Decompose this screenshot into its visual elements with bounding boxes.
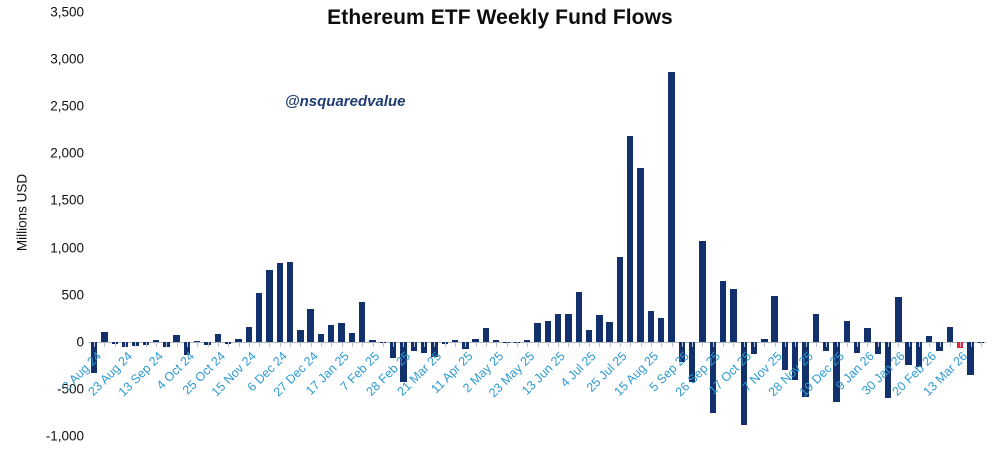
x-tickmark [754, 342, 755, 347]
bar [617, 257, 623, 342]
y-tick-label: 2,500 [50, 99, 84, 114]
bar [895, 297, 901, 342]
x-tickmark [826, 342, 827, 347]
bar [318, 334, 324, 342]
x-tickmark [208, 342, 209, 347]
bar [637, 168, 643, 341]
x-tickmark [300, 342, 301, 347]
bar [307, 309, 313, 342]
plot-area: 2 Aug 2423 Aug 2413 Sep 244 Oct 2425 Oct… [89, 12, 986, 436]
x-tickmark [373, 342, 374, 347]
x-tickmark [146, 342, 147, 347]
x-tickmark [362, 342, 363, 347]
bar [349, 333, 355, 341]
x-tickmark [249, 342, 250, 347]
x-tickmark [589, 342, 590, 347]
x-tickmark [135, 342, 136, 347]
bar [545, 321, 551, 342]
y-tick-label: 3,500 [50, 5, 84, 20]
bar [534, 323, 540, 342]
bar [256, 293, 262, 342]
x-tickmark [352, 342, 353, 347]
x-tickmark [125, 342, 126, 347]
x-tickmark [888, 342, 889, 347]
x-tickmark [104, 342, 105, 347]
x-tickmark [476, 342, 477, 347]
bar [864, 328, 870, 342]
x-tickmark [414, 342, 415, 347]
y-tick-label: 1,500 [50, 193, 84, 208]
bar [246, 327, 252, 342]
x-tickmark [455, 342, 456, 347]
x-tickmark [682, 342, 683, 347]
x-tickmark [239, 342, 240, 347]
x-tickmark [156, 342, 157, 347]
x-tickmark [960, 342, 961, 347]
bar [287, 262, 293, 342]
x-tickmark [331, 342, 332, 347]
bar [606, 322, 612, 342]
bar [565, 314, 571, 342]
x-tickmark [702, 342, 703, 347]
x-tickmark [723, 342, 724, 347]
bar [596, 315, 602, 341]
x-tickmark [486, 342, 487, 347]
x-tickmark [228, 342, 229, 347]
x-tickmark [383, 342, 384, 347]
x-tickmark [744, 342, 745, 347]
bar [771, 296, 777, 342]
x-tickmark [651, 342, 652, 347]
x-tickmark [311, 342, 312, 347]
x-tickmark [445, 342, 446, 347]
x-tickmark [867, 342, 868, 347]
x-tickmark [465, 342, 466, 347]
x-tickmark [713, 342, 714, 347]
x-tickmark [434, 342, 435, 347]
y-tick-label: 1,000 [50, 240, 84, 255]
x-tickmark [630, 342, 631, 347]
x-tickmark [568, 342, 569, 347]
x-tickmark [847, 342, 848, 347]
x-tickmark [538, 342, 539, 347]
x-tickmark [218, 342, 219, 347]
x-tickmark [393, 342, 394, 347]
x-tickmark [517, 342, 518, 347]
x-tickmark [507, 342, 508, 347]
y-tick-label: 0 [76, 334, 84, 349]
x-tickmark [909, 342, 910, 347]
x-tickmark [816, 342, 817, 347]
x-tickmark [599, 342, 600, 347]
x-tickmark [290, 342, 291, 347]
bar [297, 330, 303, 341]
y-tick-label: 500 [61, 287, 84, 302]
y-tick-label: 3,000 [50, 52, 84, 67]
bar [576, 292, 582, 342]
x-tickmark [641, 342, 642, 347]
bar [173, 335, 179, 342]
x-tickmark [610, 342, 611, 347]
x-tickmark [837, 342, 838, 347]
bar [668, 72, 674, 341]
x-tickmark [795, 342, 796, 347]
x-tickmark [764, 342, 765, 347]
x-tickmark [692, 342, 693, 347]
x-tickmark [981, 342, 982, 347]
x-tickmark [527, 342, 528, 347]
bar [359, 302, 365, 342]
bar [555, 314, 561, 341]
x-tickmark [672, 342, 673, 347]
x-tickmark [940, 342, 941, 347]
bar [483, 328, 489, 342]
x-tickmark [898, 342, 899, 347]
bar [101, 332, 107, 341]
bar [648, 311, 654, 342]
bar [947, 327, 953, 342]
x-tickmark [280, 342, 281, 347]
x-tickmark [806, 342, 807, 347]
bar [627, 136, 633, 341]
x-tickmark [661, 342, 662, 347]
x-tickmark [785, 342, 786, 347]
y-tick-label: -1,000 [46, 429, 84, 444]
bar [720, 281, 726, 341]
bar [813, 314, 819, 342]
x-tickmark [403, 342, 404, 347]
bar [338, 323, 344, 341]
x-tickmark [775, 342, 776, 347]
bar [658, 318, 664, 342]
x-tickmark [929, 342, 930, 347]
x-tickmark [496, 342, 497, 347]
bar [844, 321, 850, 342]
x-tickmark [919, 342, 920, 347]
bar [699, 241, 705, 342]
bar [266, 270, 272, 342]
x-tickmark [177, 342, 178, 347]
bar [277, 263, 283, 342]
x-tickmark [342, 342, 343, 347]
x-tickmark [424, 342, 425, 347]
x-tickmark [857, 342, 858, 347]
bar [730, 289, 736, 342]
chart-container: Ethereum ETF Weekly Fund Flows @nsquared… [0, 0, 1000, 456]
y-tick-label: 2,000 [50, 146, 84, 161]
x-tickmark [259, 342, 260, 347]
x-tickmark [878, 342, 879, 347]
x-tickmark [558, 342, 559, 347]
x-tickmark [187, 342, 188, 347]
x-tickmark [166, 342, 167, 347]
x-tickmark [620, 342, 621, 347]
bar [215, 334, 221, 342]
x-tickmark [94, 342, 95, 347]
x-tickmark [733, 342, 734, 347]
x-tickmark [321, 342, 322, 347]
x-tickmark [971, 342, 972, 347]
x-tickmark [548, 342, 549, 347]
x-tickmark [115, 342, 116, 347]
x-tickmark [579, 342, 580, 347]
x-tickmark [269, 342, 270, 347]
x-tickmark [197, 342, 198, 347]
bar [586, 330, 592, 342]
bar [328, 325, 334, 342]
x-tickmark [950, 342, 951, 347]
